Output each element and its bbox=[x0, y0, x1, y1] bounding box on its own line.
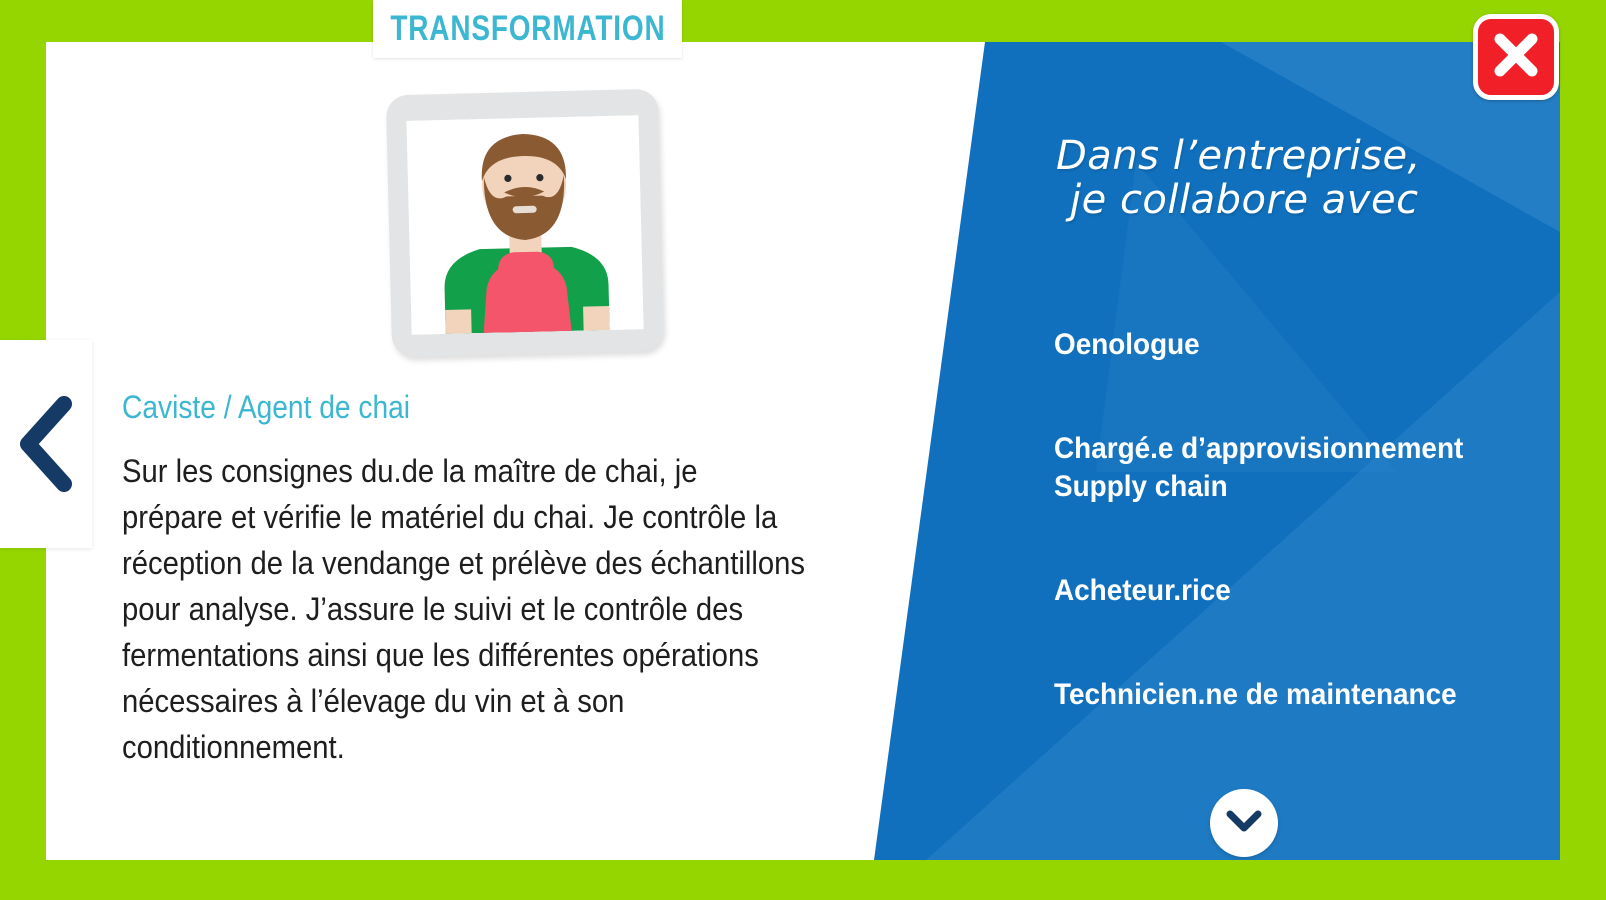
collaboration-heading: Dans l’entreprise, je collabore avec bbox=[1056, 134, 1421, 222]
close-button[interactable] bbox=[1473, 14, 1559, 100]
avatar-frame bbox=[386, 89, 664, 358]
job-info: Caviste / Agent de chai Sur les consigne… bbox=[122, 389, 822, 770]
scroll-down-button[interactable] bbox=[1210, 789, 1278, 857]
avatar-mouth bbox=[513, 206, 537, 214]
list-item[interactable]: Acheteur.rice bbox=[1054, 572, 1519, 610]
collaboration-heading-line2: je collabore avec bbox=[1070, 178, 1421, 222]
avatar bbox=[406, 115, 643, 335]
list-item[interactable]: Technicien.ne de maintenance bbox=[1054, 676, 1519, 714]
avatar-apron bbox=[482, 263, 572, 333]
collaboration-heading-line1: Dans l’entreprise, bbox=[1056, 133, 1421, 179]
previous-button[interactable] bbox=[0, 340, 92, 548]
chevron-down-icon bbox=[1225, 808, 1263, 839]
close-icon bbox=[1489, 28, 1543, 87]
page-title: TRANSFORMATION bbox=[373, 0, 682, 58]
page-title-label: TRANSFORMATION bbox=[390, 9, 665, 49]
list-item[interactable]: Oenologue bbox=[1054, 326, 1519, 364]
chevron-left-icon bbox=[16, 396, 76, 492]
content-card: Caviste / Agent de chai Sur les consigne… bbox=[46, 42, 1560, 860]
list-item[interactable]: Chargé.e d’approvisionnement Supply chai… bbox=[1054, 430, 1519, 506]
job-title: Caviste / Agent de chai bbox=[122, 389, 738, 426]
job-description: Sur les consignes du.de la maître de cha… bbox=[122, 448, 806, 770]
collaboration-list: Oenologue Chargé.e d’approvisionnement S… bbox=[1054, 326, 1554, 780]
